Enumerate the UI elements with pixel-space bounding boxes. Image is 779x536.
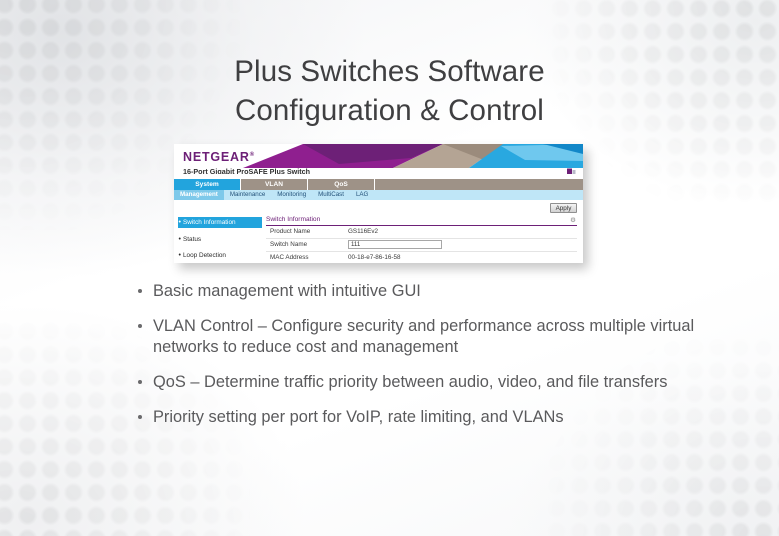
field-label-product-name: Product Name — [266, 228, 348, 235]
list-item: Basic management with intuitive GUI — [136, 281, 696, 302]
bullet-dot-icon — [138, 289, 142, 293]
sidebar-item-loop-detection[interactable]: Loop Detection — [178, 250, 262, 261]
bullet-text-2: VLAN Control – Configure security and pe… — [153, 316, 696, 358]
list-item: QoS – Determine traffic priority between… — [136, 372, 696, 393]
netgear-logo: NETGEAR® — [183, 150, 255, 164]
field-value-product-name: GS116Ev2 — [348, 228, 378, 235]
apply-button[interactable]: Apply — [550, 203, 577, 213]
bullet-dot-icon — [138, 415, 142, 419]
ui-sidebar: Switch Information Status Loop Detection — [178, 217, 262, 263]
tab-system[interactable]: System — [174, 179, 241, 190]
panel-title: Switch Information ⚙ — [266, 216, 577, 226]
field-label-mac-address: MAC Address — [266, 254, 348, 261]
netgear-logo-mark: ® — [250, 152, 255, 158]
logout-icon[interactable] — [567, 168, 576, 174]
tab-qos[interactable]: QoS — [308, 179, 375, 190]
table-row-mac-address: MAC Address 00-18-e7-86-16-58 — [266, 252, 577, 264]
field-label-switch-name: Switch Name — [266, 241, 348, 248]
panel-title-text: Switch Information — [266, 216, 320, 223]
slide-title: Plus Switches Software Configuration & C… — [0, 52, 779, 130]
subtab-lag[interactable]: LAG — [350, 190, 374, 200]
sidebar-item-switch-information[interactable]: Switch Information — [178, 217, 262, 228]
subtab-monitoring[interactable]: Monitoring — [271, 190, 312, 200]
list-item: VLAN Control – Configure security and pe… — [136, 316, 696, 358]
bullet-text-3: QoS – Determine traffic priority between… — [153, 372, 696, 393]
table-row-product-name: Product Name GS116Ev2 — [266, 226, 577, 239]
table-row-switch-name: Switch Name 111 — [266, 239, 577, 252]
help-icon[interactable]: ⚙ — [570, 216, 576, 224]
bullet-text-4: Priority setting per port for VoIP, rate… — [153, 407, 696, 428]
subtab-maintenance[interactable]: Maintenance — [224, 190, 271, 200]
subtab-multicast[interactable]: MultiCast — [312, 190, 350, 200]
list-item: Priority setting per port for VoIP, rate… — [136, 407, 696, 428]
title-line-2: Configuration & Control — [0, 91, 779, 130]
header-geometric-artwork — [243, 144, 583, 168]
sidebar-item-status[interactable]: Status — [178, 234, 262, 245]
switch-model-label: 16-Port Gigabit ProSAFE Plus Switch — [183, 167, 310, 174]
primary-tab-bar: System VLAN QoS — [174, 179, 583, 190]
title-line-1: Plus Switches Software — [0, 52, 779, 91]
bullet-dot-icon — [138, 324, 142, 328]
bullet-dot-icon — [138, 380, 142, 384]
feature-bullet-list: Basic management with intuitive GUI VLAN… — [136, 281, 696, 428]
bullet-text-1: Basic management with intuitive GUI — [153, 281, 696, 302]
switch-information-panel: Switch Information ⚙ Product Name GS116E… — [266, 216, 577, 263]
netgear-ui-screenshot: NETGEAR® 16-Port Gigabit ProSAFE Plus Sw… — [174, 144, 583, 263]
netgear-ui-header: NETGEAR® 16-Port Gigabit ProSAFE Plus Sw… — [174, 144, 583, 174]
netgear-ui-body: Apply Switch Information Status Loop Det… — [174, 200, 583, 263]
switch-name-input[interactable]: 111 — [348, 240, 442, 249]
secondary-tab-bar: Management Maintenance Monitoring MultiC… — [174, 190, 583, 200]
subtab-management[interactable]: Management — [174, 190, 224, 200]
netgear-logo-text: NETGEAR — [183, 150, 250, 164]
tab-vlan[interactable]: VLAN — [241, 179, 308, 190]
field-value-mac-address: 00-18-e7-86-16-58 — [348, 254, 401, 261]
slide-canvas: Plus Switches Software Configuration & C… — [0, 0, 779, 536]
